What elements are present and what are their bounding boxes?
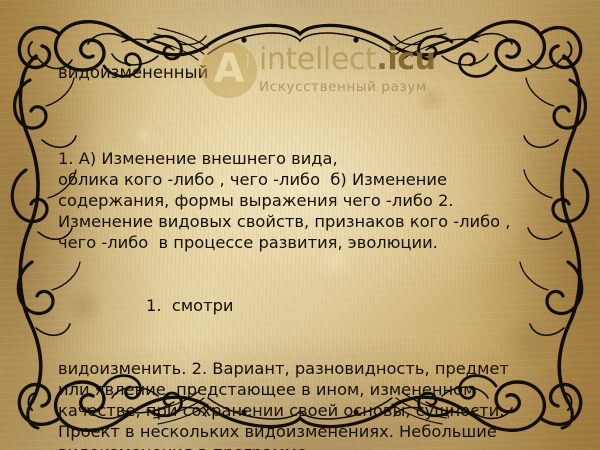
watermark-brand: intellect.icu — [259, 45, 436, 76]
watermark-brand-name: intellect — [259, 42, 376, 77]
definition-paragraph: 1. смотри — [58, 295, 550, 316]
ornament-top — [8, 4, 592, 116]
watermark-badge-mark: i — [245, 54, 250, 71]
definition-body: 1. А) Изменение внешнего вида, облика ко… — [58, 106, 550, 450]
watermark-brand-tld: .icu — [376, 42, 435, 77]
letter-a-in-circle-icon: A i — [201, 42, 257, 98]
watermark-logo: A i intellect.icu Искусственный разум — [201, 42, 436, 98]
watermark-badge-letter: A — [214, 49, 245, 89]
definition-paragraph: видоизменить. 2. Вариант, разновидность,… — [58, 358, 550, 450]
page-title: видоизмененный — [58, 63, 208, 83]
watermark-text: intellect.icu Искусственный разум — [259, 45, 436, 95]
watermark-tagline: Искусственный разум — [259, 79, 436, 95]
definition-paragraph: 1. А) Изменение внешнего вида, облика ко… — [58, 148, 550, 253]
parchment-page: видоизмененный 1. А) Изменение внешнего … — [0, 0, 600, 450]
